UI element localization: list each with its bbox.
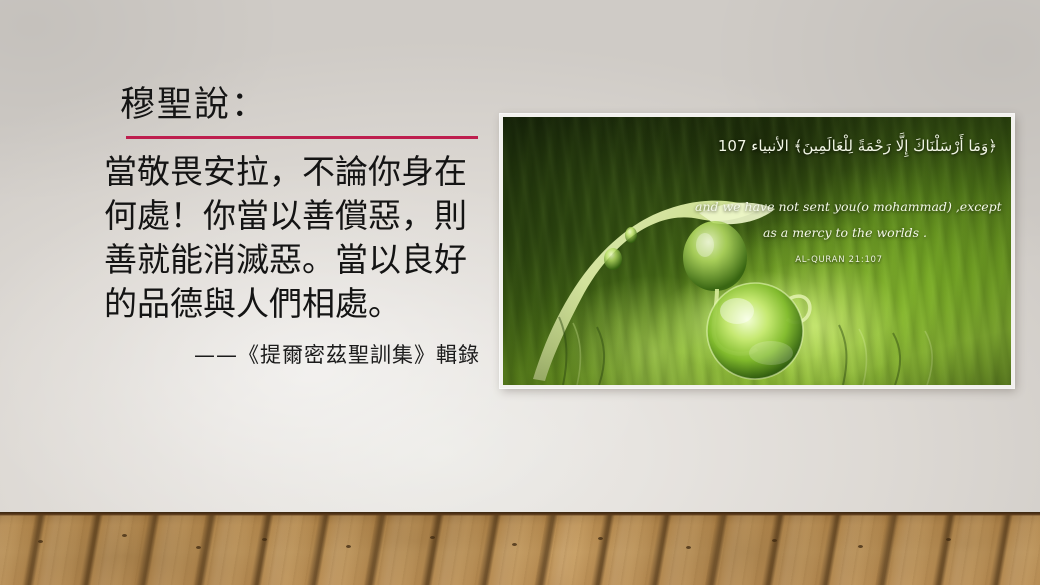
title-underline-rule [126,136,478,139]
dew-drop-photo: ﴿وَمَا أَرْسَلْنَاكَ إِلَّا رَحْمَةً لِل… [503,117,1011,385]
floor-knot [122,534,127,537]
floor-knot [772,539,777,542]
floor-knot [346,545,351,548]
photo-frame: ﴿وَمَا أَرْسَلْنَاكَ إِلَّا رَحْمَةً لِل… [500,114,1014,388]
text-content-block: 穆聖說： 當敬畏安拉，不論你身在何處！你當以善償惡，則善就能消滅惡。當以良好的品… [104,84,496,369]
floor-knot [430,536,435,539]
floor-knot [858,545,863,548]
floor-knot [38,540,43,543]
floor-knot [262,538,267,541]
floor-plank-lines [0,512,1040,585]
dew-drop-illustration [503,117,1011,385]
page-title: 穆聖說： [104,84,496,128]
floor-knot [196,546,201,549]
hadith-body-text: 當敬畏安拉，不論你身在何處！你當以善償惡，則善就能消滅惡。當以良好的品德與人們相… [104,150,496,327]
floor-wall-junction [0,512,1040,516]
floor-knot [598,537,603,540]
floor-knot [946,538,951,541]
source-attribution: ——《提爾密茲聖訓集》輯錄 [104,339,496,369]
floor-knot [512,543,517,546]
floor-knot [686,546,691,549]
wooden-floor [0,512,1040,585]
presentation-slide: 穆聖說： 當敬畏安拉，不論你身在何處！你當以善償惡，則善就能消滅惡。當以良好的品… [0,0,1040,585]
